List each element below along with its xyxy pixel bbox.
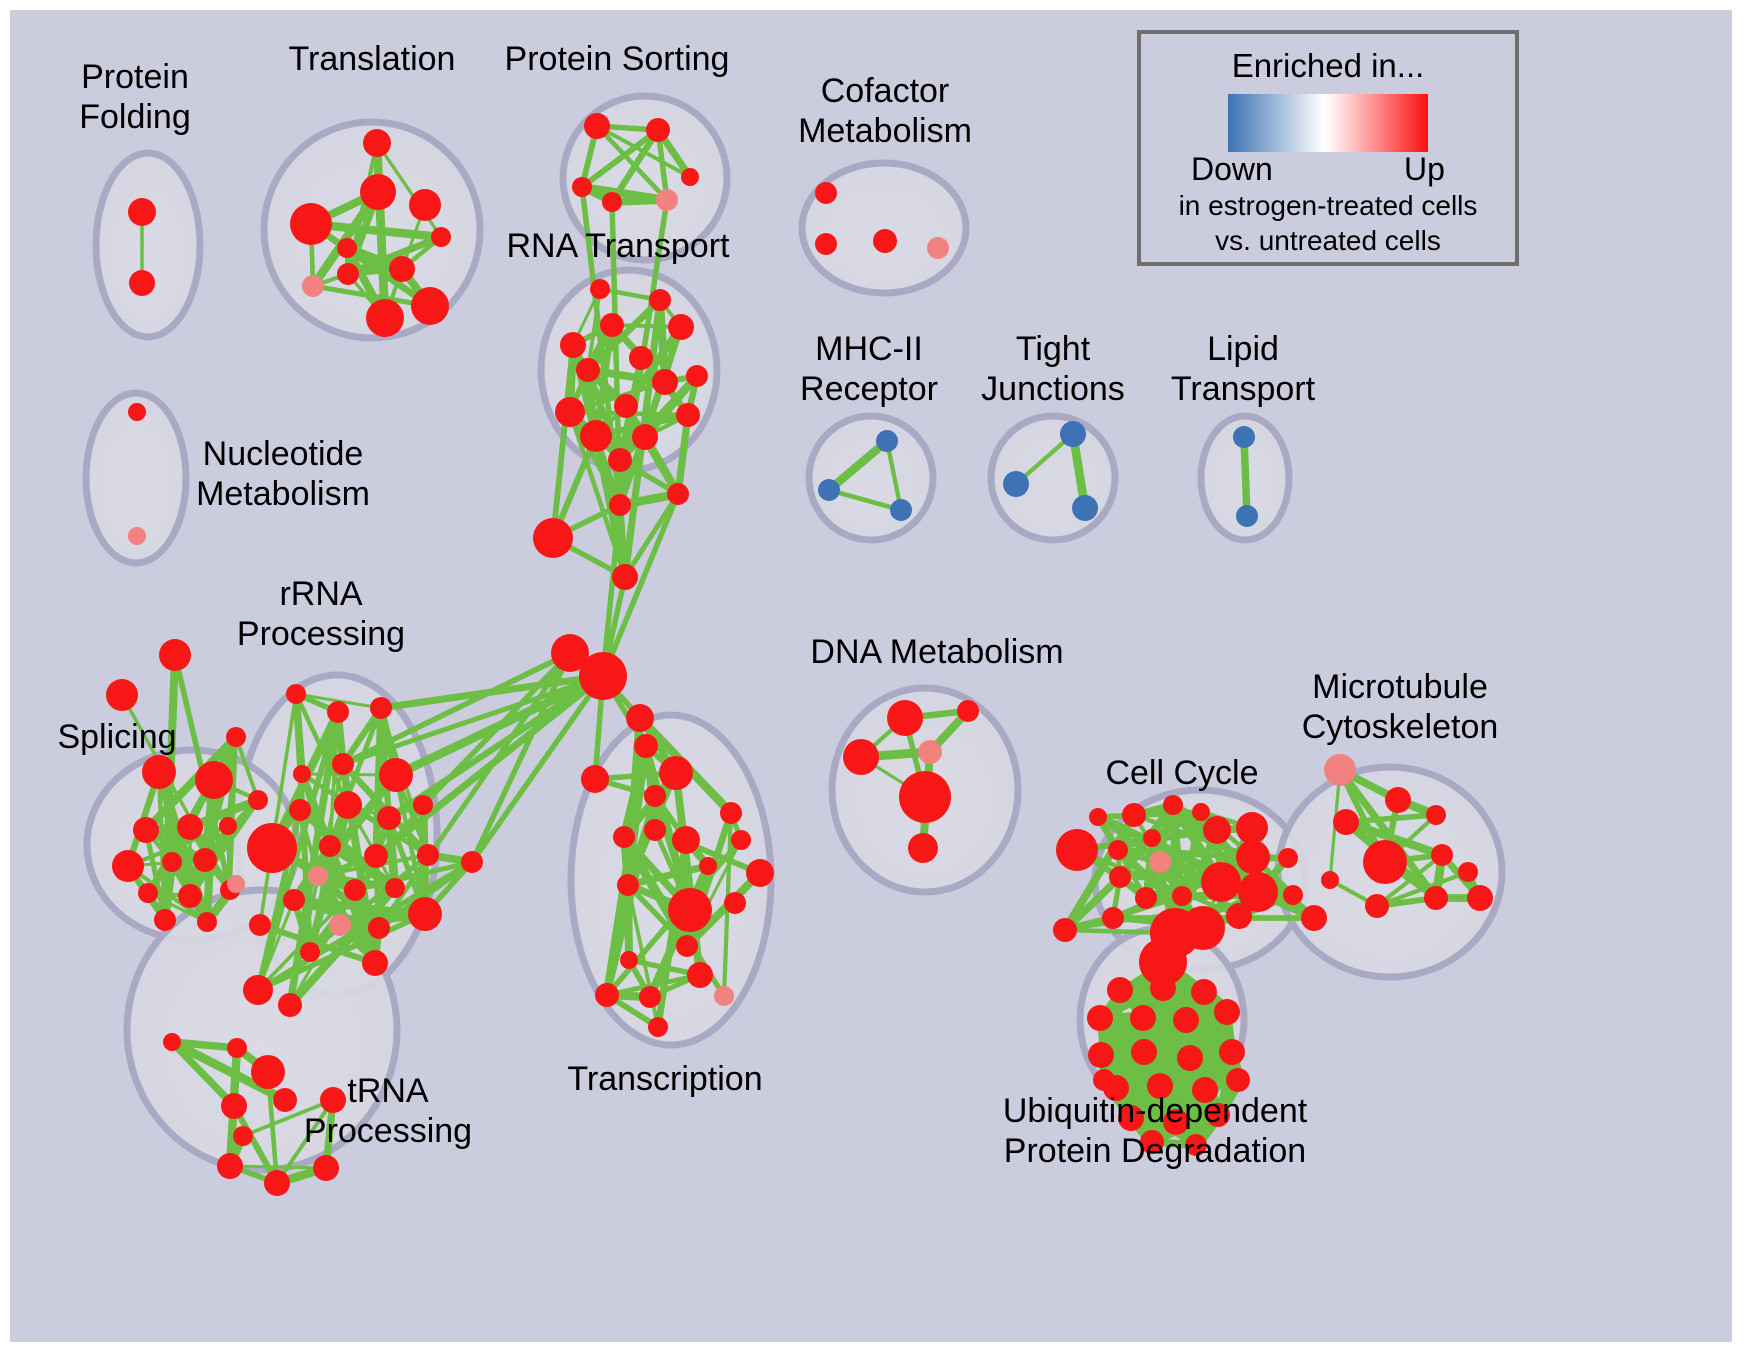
network-node[interactable] xyxy=(389,256,415,282)
network-node[interactable] xyxy=(676,935,698,957)
network-node[interactable] xyxy=(1226,1068,1250,1092)
network-node[interactable] xyxy=(293,765,311,783)
cluster-label-cell-cycle: Cell Cycle xyxy=(1105,754,1258,792)
network-node[interactable] xyxy=(815,233,837,255)
network-edge xyxy=(1244,437,1247,516)
cluster-label-nucleotide-metabolism: NucleotideMetabolism xyxy=(196,435,370,513)
network-node[interactable] xyxy=(626,704,654,732)
network-svg: ProteinFoldingTranslationNucleotideMetab… xyxy=(0,0,1750,1360)
network-node[interactable] xyxy=(461,851,483,873)
cluster-label-translation: Translation xyxy=(289,40,456,78)
network-node[interactable] xyxy=(329,914,351,936)
network-node[interactable] xyxy=(193,848,217,872)
network-node[interactable] xyxy=(957,700,979,722)
network-node[interactable] xyxy=(644,819,666,841)
network-node[interactable] xyxy=(273,1088,297,1112)
network-node[interactable] xyxy=(377,806,401,830)
network-node[interactable] xyxy=(302,275,324,297)
network-node[interactable] xyxy=(319,835,341,857)
network-node[interactable] xyxy=(1135,887,1157,909)
network-node[interactable] xyxy=(1226,903,1252,929)
network-node[interactable] xyxy=(639,986,661,1008)
cluster-ellipse-mhc-ii-receptor[interactable] xyxy=(809,416,933,540)
network-node[interactable] xyxy=(1219,1039,1245,1065)
network-node[interactable] xyxy=(887,700,923,736)
network-node[interactable] xyxy=(681,168,699,186)
network-node[interactable] xyxy=(278,993,302,1017)
network-node[interactable] xyxy=(1109,866,1131,888)
network-node[interactable] xyxy=(368,917,390,939)
network-node[interactable] xyxy=(1093,1069,1115,1091)
cluster-label-splicing: Splicing xyxy=(57,718,176,756)
network-node[interactable] xyxy=(608,448,632,472)
network-node[interactable] xyxy=(408,897,442,931)
legend-subtitle-line1: in estrogen-treated cells xyxy=(1179,190,1478,221)
network-node[interactable] xyxy=(327,701,349,723)
network-node[interactable] xyxy=(818,479,840,501)
network-node[interactable] xyxy=(1130,1005,1156,1031)
network-node[interactable] xyxy=(337,263,359,285)
figure-canvas: ProteinFoldingTranslationNucleotideMetab… xyxy=(0,0,1750,1360)
network-node[interactable] xyxy=(668,314,694,340)
network-node[interactable] xyxy=(195,761,233,799)
network-node[interactable] xyxy=(609,494,631,516)
cluster-label-protein-folding: ProteinFolding xyxy=(79,58,191,136)
network-node[interactable] xyxy=(1385,787,1411,813)
cluster-ellipse-protein-folding[interactable] xyxy=(96,153,200,337)
network-node[interactable] xyxy=(843,739,879,775)
network-node[interactable] xyxy=(1301,905,1327,931)
network-node[interactable] xyxy=(1283,885,1303,905)
network-node[interactable] xyxy=(1363,840,1407,884)
network-node[interactable] xyxy=(1321,871,1339,889)
network-node[interactable] xyxy=(600,313,624,337)
network-node[interactable] xyxy=(409,189,441,221)
network-node[interactable] xyxy=(163,1033,181,1051)
network-node[interactable] xyxy=(290,203,332,245)
cluster-label-cofactor-metabolism: CofactorMetabolism xyxy=(798,72,972,150)
network-node[interactable] xyxy=(646,118,670,142)
network-node[interactable] xyxy=(1458,862,1478,882)
network-node[interactable] xyxy=(283,889,305,911)
network-node[interactable] xyxy=(890,499,912,521)
network-node[interactable] xyxy=(927,237,949,259)
network-node[interactable] xyxy=(686,365,708,387)
network-node[interactable] xyxy=(1072,495,1098,521)
network-node[interactable] xyxy=(746,859,774,887)
cluster-label-microtubule-cytoskeleton: MicrotubuleCytoskeleton xyxy=(1302,668,1499,746)
network-node[interactable] xyxy=(555,397,585,427)
network-node[interactable] xyxy=(1172,886,1192,906)
network-node[interactable] xyxy=(724,892,746,914)
network-node[interactable] xyxy=(1163,795,1183,815)
network-node[interactable] xyxy=(1053,918,1077,942)
network-node[interactable] xyxy=(1122,803,1146,827)
network-node[interactable] xyxy=(1467,885,1493,911)
network-node[interactable] xyxy=(617,874,639,896)
network-node[interactable] xyxy=(197,912,217,932)
network-node[interactable] xyxy=(652,369,678,395)
network-node[interactable] xyxy=(576,358,600,382)
network-node[interactable] xyxy=(1089,808,1107,826)
network-node[interactable] xyxy=(248,790,268,810)
network-node[interactable] xyxy=(918,740,942,764)
legend: Enriched in... Down Up in estrogen-treat… xyxy=(1139,32,1517,264)
network-node[interactable] xyxy=(300,942,320,962)
network-node[interactable] xyxy=(1150,975,1176,1001)
network-node[interactable] xyxy=(128,403,146,421)
network-node[interactable] xyxy=(1203,816,1231,844)
network-node[interactable] xyxy=(672,826,700,854)
network-node[interactable] xyxy=(379,758,413,792)
network-node[interactable] xyxy=(106,679,138,711)
network-node[interactable] xyxy=(613,826,635,848)
network-node[interactable] xyxy=(876,430,898,452)
network-node[interactable] xyxy=(162,852,182,872)
network-node[interactable] xyxy=(676,403,700,427)
network-node[interactable] xyxy=(364,844,388,868)
network-node[interactable] xyxy=(1087,1005,1113,1031)
network-node[interactable] xyxy=(656,189,678,211)
cluster-label-lipid-transport: LipidTransport xyxy=(1171,330,1316,408)
network-node[interactable] xyxy=(667,483,689,505)
network-node[interactable] xyxy=(1060,421,1086,447)
network-node[interactable] xyxy=(720,802,742,824)
network-node[interactable] xyxy=(251,1055,285,1089)
network-node[interactable] xyxy=(334,791,362,819)
network-node[interactable] xyxy=(632,424,658,450)
network-node[interactable] xyxy=(219,817,237,835)
network-node[interactable] xyxy=(129,270,155,296)
network-node[interactable] xyxy=(264,1170,290,1196)
network-node[interactable] xyxy=(1149,851,1171,873)
network-node[interactable] xyxy=(1426,805,1446,825)
network-node[interactable] xyxy=(142,755,176,789)
cluster-label-rna-transport: RNA Transport xyxy=(507,227,731,265)
network-node[interactable] xyxy=(1214,999,1240,1025)
network-node[interactable] xyxy=(612,564,638,590)
network-node[interactable] xyxy=(614,394,638,418)
legend-title: Enriched in... xyxy=(1232,47,1425,84)
network-node[interactable] xyxy=(227,1038,247,1058)
network-node[interactable] xyxy=(138,883,158,903)
network-node[interactable] xyxy=(289,799,311,821)
network-edge xyxy=(230,1166,326,1168)
cluster-label-tight-junctions: TightJunctions xyxy=(981,330,1125,408)
network-node[interactable] xyxy=(1107,977,1133,1003)
network-node[interactable] xyxy=(363,129,391,157)
cluster-label-rrna-processing: rRNAProcessing xyxy=(237,575,405,653)
network-node[interactable] xyxy=(815,182,837,204)
network-node[interactable] xyxy=(1236,505,1258,527)
network-node[interactable] xyxy=(332,753,354,775)
network-node[interactable] xyxy=(128,198,156,226)
network-node[interactable] xyxy=(731,830,751,850)
network-node[interactable] xyxy=(1088,1042,1114,1068)
network-node[interactable] xyxy=(1102,907,1124,929)
network-node[interactable] xyxy=(1201,862,1241,902)
network-node[interactable] xyxy=(337,238,357,258)
network-node[interactable] xyxy=(579,652,627,700)
network-node[interactable] xyxy=(177,814,203,840)
network-node[interactable] xyxy=(629,346,653,370)
network-node[interactable] xyxy=(154,909,176,931)
network-node[interactable] xyxy=(370,697,392,719)
network-node[interactable] xyxy=(128,527,146,545)
network-node[interactable] xyxy=(1424,886,1448,910)
network-node[interactable] xyxy=(313,1155,339,1181)
network-node[interactable] xyxy=(217,1153,243,1179)
network-node[interactable] xyxy=(1324,754,1356,786)
network-node[interactable] xyxy=(243,975,273,1005)
network-node[interactable] xyxy=(581,765,609,793)
network-node[interactable] xyxy=(644,785,666,807)
network-node[interactable] xyxy=(221,1093,247,1119)
network-node[interactable] xyxy=(1131,1039,1157,1065)
legend-subtitle-line2: vs. untreated cells xyxy=(1215,225,1441,256)
network-node[interactable] xyxy=(431,227,451,247)
network-node[interactable] xyxy=(308,866,328,886)
network-node[interactable] xyxy=(649,289,671,311)
network-node[interactable] xyxy=(1233,426,1255,448)
network-node[interactable] xyxy=(1177,1045,1203,1071)
network-node[interactable] xyxy=(249,914,271,936)
network-node[interactable] xyxy=(362,950,388,976)
network-node[interactable] xyxy=(560,332,586,358)
network-node[interactable] xyxy=(1365,894,1389,918)
network-node[interactable] xyxy=(1056,829,1098,871)
legend-high-label: Up xyxy=(1404,151,1445,187)
network-node[interactable] xyxy=(413,795,433,815)
network-node[interactable] xyxy=(1192,803,1210,821)
network-node[interactable] xyxy=(687,962,713,988)
network-node[interactable] xyxy=(1278,848,1298,868)
network-node[interactable] xyxy=(584,113,610,139)
cluster-label-dna-metabolism: DNA Metabolism xyxy=(810,633,1063,671)
network-node[interactable] xyxy=(286,684,306,704)
cluster-label-transcription: Transcription xyxy=(567,1060,762,1098)
network-node[interactable] xyxy=(112,850,144,882)
network-node[interactable] xyxy=(668,888,712,932)
network-node[interactable] xyxy=(1108,840,1128,860)
network-node[interactable] xyxy=(344,879,366,901)
network-node[interactable] xyxy=(659,756,693,790)
network-node[interactable] xyxy=(178,884,202,908)
network-node[interactable] xyxy=(1181,906,1225,950)
network-node[interactable] xyxy=(320,1087,346,1113)
network-node[interactable] xyxy=(1191,979,1217,1005)
network-node[interactable] xyxy=(247,823,297,873)
network-node[interactable] xyxy=(620,951,638,969)
network-node[interactable] xyxy=(572,177,592,197)
network-node[interactable] xyxy=(648,1017,668,1037)
network-node[interactable] xyxy=(590,279,610,299)
network-node[interactable] xyxy=(714,986,734,1006)
cluster-label-mhc-ii-receptor: MHC-IIReceptor xyxy=(800,330,938,408)
network-node[interactable] xyxy=(233,1126,253,1146)
network-node[interactable] xyxy=(1236,840,1270,874)
network-node[interactable] xyxy=(1431,844,1453,866)
network-node[interactable] xyxy=(133,817,159,843)
network-node[interactable] xyxy=(227,875,245,893)
cluster-label-protein-sorting: Protein Sorting xyxy=(505,40,730,78)
network-node[interactable] xyxy=(602,192,622,212)
network-node[interactable] xyxy=(580,420,612,452)
network-node[interactable] xyxy=(411,287,449,325)
network-node[interactable] xyxy=(699,857,717,875)
network-node[interactable] xyxy=(159,639,191,671)
network-node[interactable] xyxy=(595,983,619,1007)
network-node[interactable] xyxy=(226,727,246,747)
network-node[interactable] xyxy=(533,518,573,558)
network-node[interactable] xyxy=(634,734,658,758)
legend-gradient-bar xyxy=(1228,94,1428,152)
network-node[interactable] xyxy=(385,878,405,898)
network-node[interactable] xyxy=(366,299,404,337)
network-node[interactable] xyxy=(1333,809,1359,835)
network-node[interactable] xyxy=(1173,1007,1199,1033)
network-node[interactable] xyxy=(873,229,897,253)
network-node[interactable] xyxy=(1143,829,1161,847)
network-node[interactable] xyxy=(1236,812,1268,844)
network-node[interactable] xyxy=(360,174,396,210)
network-node[interactable] xyxy=(1003,471,1029,497)
network-node[interactable] xyxy=(908,833,938,863)
network-node[interactable] xyxy=(899,771,951,823)
network-node[interactable] xyxy=(417,844,439,866)
legend-low-label: Down xyxy=(1191,151,1273,187)
